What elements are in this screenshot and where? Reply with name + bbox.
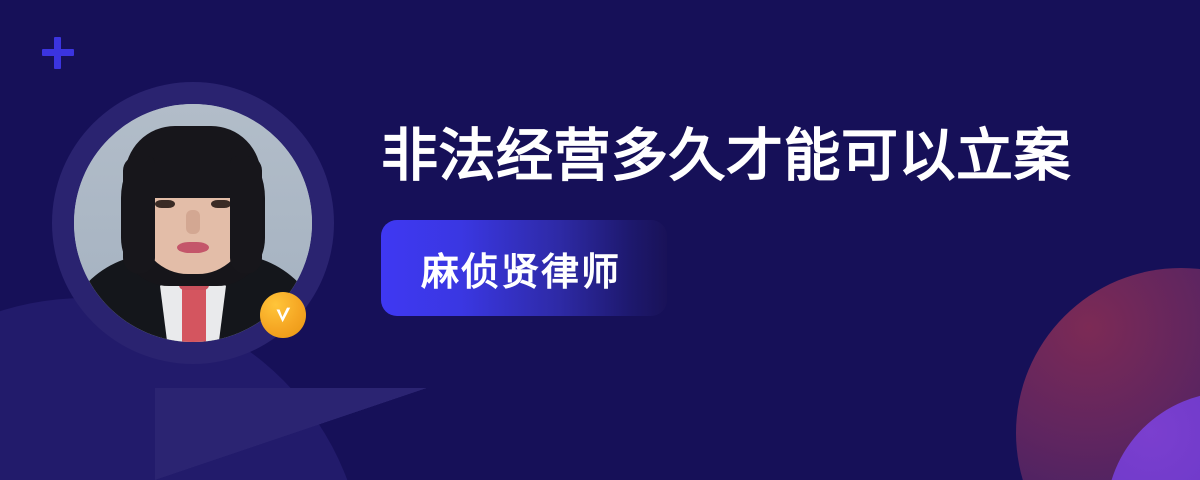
- page-title: 非法经营多久才能可以立案: [381, 118, 1071, 194]
- avatar: [52, 82, 334, 364]
- plus-icon: [40, 35, 76, 71]
- banner-content: 非法经营多久才能可以立案 麻侦贤律师: [381, 118, 1081, 316]
- lawyer-question-banner: 非法经营多久才能可以立案 麻侦贤律师: [0, 0, 1200, 480]
- decorative-circle-violet: [1106, 392, 1200, 480]
- lawyer-name-button[interactable]: 麻侦贤律师: [381, 220, 667, 316]
- decorative-triangle: [155, 388, 427, 480]
- verified-v-badge-icon: [260, 292, 306, 338]
